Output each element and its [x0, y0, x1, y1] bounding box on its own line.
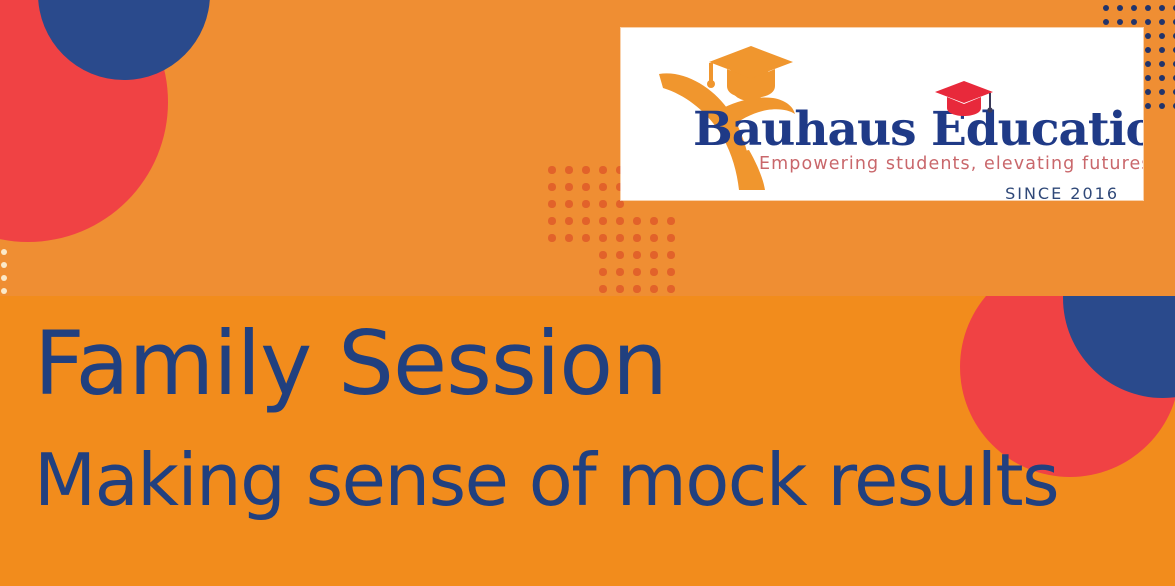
decor-dot	[599, 217, 606, 224]
decor-dot	[548, 166, 555, 173]
logo-tagline: Empowering students, elevating futures	[759, 154, 1139, 174]
headline-block: Family Session Making sense of mock resu…	[0, 296, 1175, 586]
slide-subtitle: Making sense of mock results	[34, 444, 1058, 516]
decor-dot	[1145, 75, 1151, 81]
decor-dot	[548, 183, 555, 190]
decor-dot	[667, 268, 674, 275]
decor-dot	[565, 217, 572, 224]
decor-dot	[565, 183, 572, 190]
decor-dot	[650, 217, 657, 224]
decor-dot	[1, 275, 7, 281]
decor-dot	[582, 217, 589, 224]
decor-dot	[548, 200, 555, 207]
decor-dot	[1159, 5, 1165, 11]
decor-dot	[548, 234, 555, 241]
decor-dot	[633, 251, 640, 258]
decor-dot	[616, 200, 623, 207]
decor-dot	[667, 285, 674, 292]
decor-dot	[667, 234, 674, 241]
logo-lockup: Bauhaus Education Empowering students, e…	[621, 28, 1143, 200]
decor-dot	[582, 166, 589, 173]
decor-dot	[1145, 19, 1151, 25]
decor-dot	[616, 251, 623, 258]
decor-dot	[616, 268, 623, 275]
logo-card: Bauhaus Education Empowering students, e…	[621, 28, 1143, 200]
decor-dot	[667, 251, 674, 258]
decor-dot	[616, 285, 623, 292]
decor-dot	[599, 234, 606, 241]
decor-dot	[599, 166, 606, 173]
decor-dot	[599, 251, 606, 258]
decor-dot	[1, 262, 7, 268]
decor-dot	[1145, 33, 1151, 39]
decor-dot	[1117, 19, 1123, 25]
decor-dot	[1117, 5, 1123, 11]
decor-dot	[599, 183, 606, 190]
decor-dot	[1103, 5, 1109, 11]
decor-dot	[1159, 47, 1165, 53]
decor-dot	[1, 249, 7, 255]
decor-dot	[1145, 89, 1151, 95]
decor-dot	[616, 234, 623, 241]
decor-dot	[1159, 75, 1165, 81]
logo-wordmark: Bauhaus Education	[693, 106, 1133, 153]
decor-dot	[565, 166, 572, 173]
decor-dot	[1145, 103, 1151, 109]
decor-dot	[616, 217, 623, 224]
decor-dot	[582, 200, 589, 207]
decor-dot	[1159, 89, 1165, 95]
graduation-cap-icon	[933, 78, 995, 118]
decor-dot	[1159, 19, 1165, 25]
decor-dot	[565, 200, 572, 207]
decor-dot	[1131, 19, 1137, 25]
decor-dot	[633, 217, 640, 224]
decor-dot	[548, 217, 555, 224]
decor-dot	[650, 268, 657, 275]
decor-dot	[1, 288, 7, 294]
decor-dot	[650, 234, 657, 241]
decor-dot	[633, 234, 640, 241]
presentation-slide: Bauhaus Education Empowering students, e…	[0, 0, 1175, 586]
decor-dot	[599, 268, 606, 275]
slide-title: Family Session	[34, 320, 667, 408]
decor-dot	[1159, 103, 1165, 109]
decor-dot	[582, 234, 589, 241]
decor-dot	[650, 285, 657, 292]
slide-header-band: Bauhaus Education Empowering students, e…	[0, 0, 1175, 296]
decor-dot	[599, 285, 606, 292]
logo-since-label: SINCE 2016	[1005, 184, 1119, 200]
decor-dot	[1159, 61, 1165, 67]
decor-dot	[1103, 19, 1109, 25]
decor-dot	[565, 234, 572, 241]
decor-dot	[667, 217, 674, 224]
decor-dot	[650, 251, 657, 258]
decor-dot	[1145, 61, 1151, 67]
decor-dot	[1131, 5, 1137, 11]
decor-dot	[1145, 47, 1151, 53]
decor-dot	[1159, 33, 1165, 39]
decor-dot	[633, 268, 640, 275]
decor-dot	[1145, 5, 1151, 11]
decor-dot	[633, 285, 640, 292]
decor-dot	[599, 200, 606, 207]
decor-dot	[582, 183, 589, 190]
